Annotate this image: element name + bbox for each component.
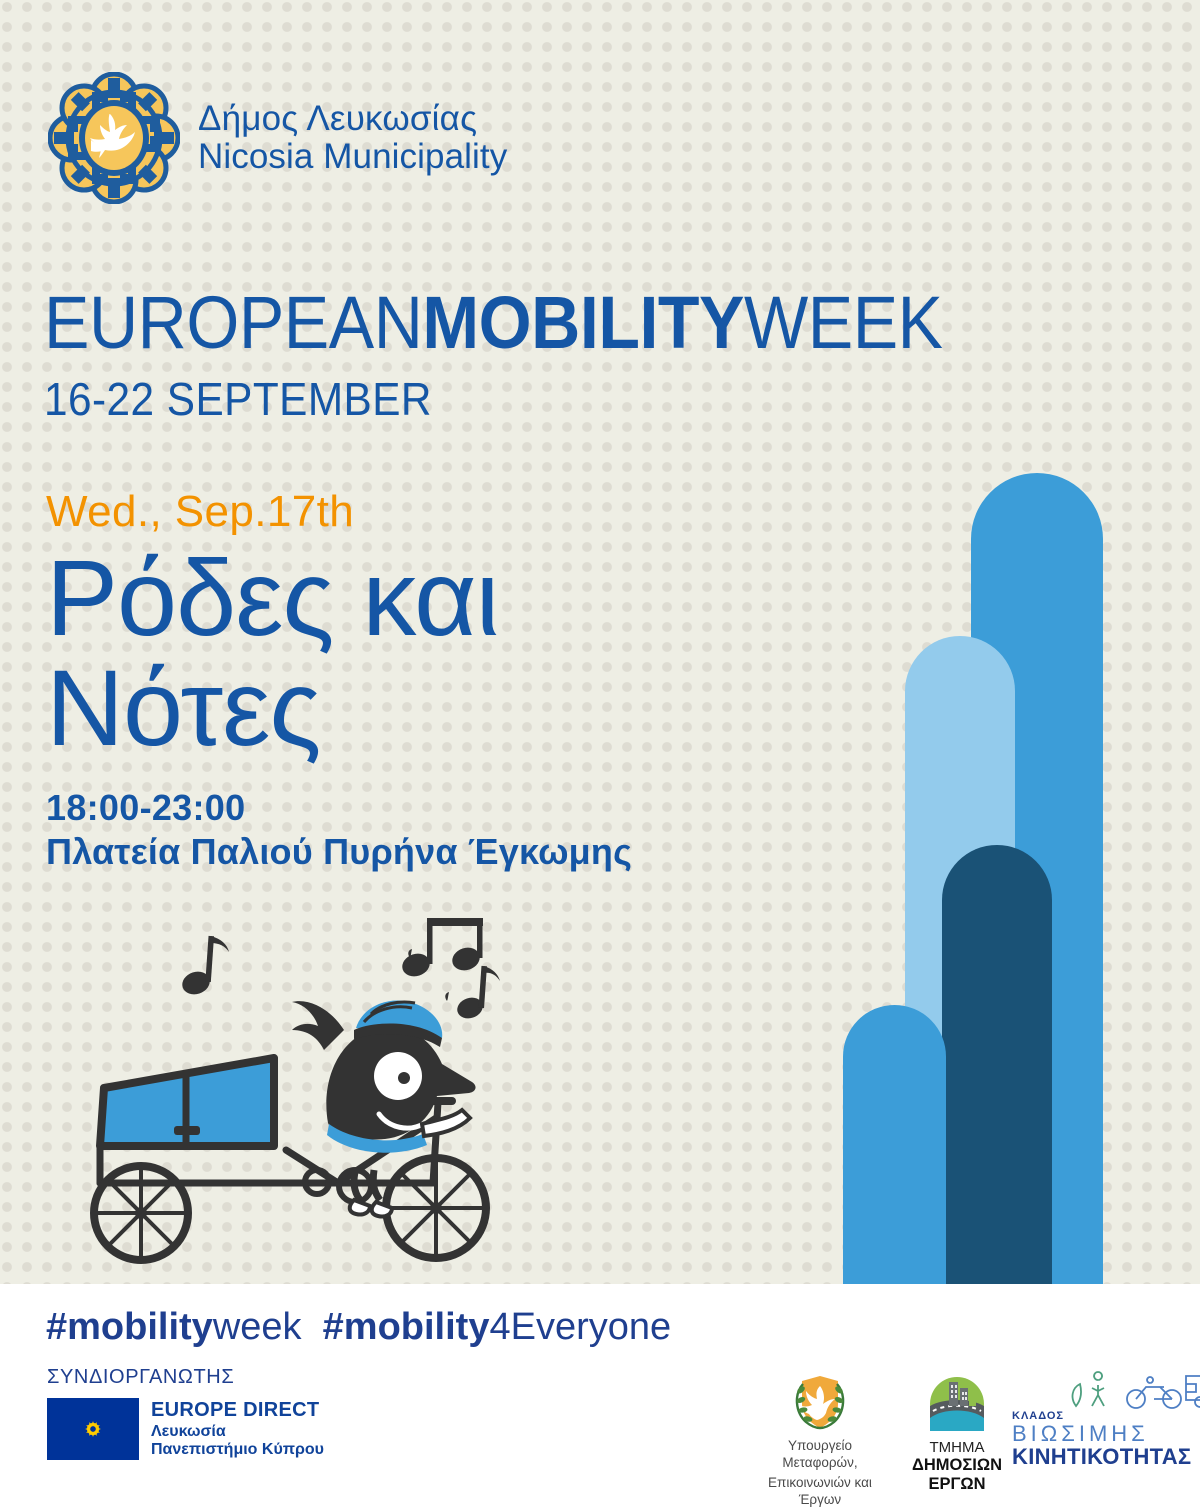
nicosia-municipality-logo-block: Δήμος Λευκωσίας Nicosia Municipality [48,72,507,204]
europe-direct-university: Πανεπιστήμιο Κύπρου [151,1441,324,1460]
mascot-on-cargo-bike-with-music-notes [38,918,548,1264]
nicosia-municipality-rosette-logo [48,72,180,204]
public-works-department-roundel [929,1376,985,1432]
cyprus-coat-of-arms [790,1376,850,1430]
decorative-bar-dark [942,845,1052,1284]
campaign-title-mobility: MOBILITY [422,281,744,364]
bike-wheel-front [386,1158,486,1258]
europe-direct-logo-block: EUROPE DIRECT Λευκωσία Πανεπιστήμιο Κύπρ… [47,1398,324,1460]
sustainable-mobility-line-3: ΚΙΝΗΤΙΚΟΤΗΤΑΣ [1012,1445,1182,1468]
event-block: Wed., Sep.17th Ρόδες και Νότες 18:00-23:… [46,487,632,873]
event-day: Wed., Sep.17th [46,487,632,537]
bike-wheel-rear [94,1166,188,1260]
music-note-left [179,936,229,998]
campaign-title-european: EUROPEAN [44,281,422,364]
coorganiser-label: ΣΥΝΔΙΟΡΓΑΝΩΤΗΣ [47,1366,234,1389]
event-time: 18:00-23:00 [46,787,632,829]
hashtag-mobility4everyone-bold: #mobility [323,1306,490,1348]
public-works-department-logo-block: ΤΜΗΜΑ ΔΗΜΟΣΙΩΝ ΕΡΓΩΝ [892,1376,1022,1494]
hashtags: #mobilityweek #mobility4Everyone [46,1306,671,1349]
department-caption-line-1: ΤΜΗΜΑ [892,1439,1022,1456]
municipality-name-english: Nicosia Municipality [198,138,507,176]
cargo-box [100,1058,274,1146]
poster-canvas: Δήμος Λευκωσίας Nicosia Municipality EUR… [0,0,1200,1500]
campaign-title-week: WEEK [744,281,943,364]
sustainable-mobility-logo-block: ΚΛΑΔΟΣ ΒΙΩΣΙΜΗΣ ΚΙΝΗΤΙΚΟΤΗΤΑΣ [1012,1376,1182,1468]
hashtag-mobility4everyone-rest: 4Everyone [489,1306,671,1348]
europe-direct-text: EUROPE DIRECT Λευκωσία Πανεπιστήμιο Κύπρ… [151,1398,324,1460]
event-title-line-2: Νότες [46,653,632,763]
eu-flag [47,1398,139,1460]
municipality-name-greek: Δήμος Λευκωσίας [198,100,507,138]
footer: #mobilityweek #mobility4Everyone ΣΥΝΔΙΟΡ… [0,1284,1200,1500]
music-note-double [399,918,483,980]
hashtag-mobilityweek-rest: week [213,1306,302,1348]
sustainable-mobility-branch-line-art [1054,1370,1200,1410]
hashtag-mobilityweek-bold: #mobility [46,1306,213,1348]
music-note-right [445,966,500,1022]
event-title-line-1: Ρόδες και [46,543,632,653]
ministry-caption-line-1: Υπουργείο Μεταφορών, [752,1437,888,1472]
event-title: Ρόδες και Νότες [46,543,632,763]
campaign-dates: 16-22 SEPTEMBER [44,372,943,426]
europe-direct-title: EUROPE DIRECT [151,1399,324,1423]
campaign-title: EUROPEANMOBILITYWEEK [44,288,943,358]
ministry-of-transport-logo-block: Υπουργείο Μεταφορών, Επικοινωνιών και Έρ… [752,1376,888,1508]
department-caption-line-2: ΔΗΜΟΣΙΩΝ ΕΡΓΩΝ [892,1456,1022,1494]
ministry-caption-line-2: Επικοινωνιών και Έργων [752,1474,888,1508]
sustainable-mobility-line-2: ΒΙΩΣΙΜΗΣ [1012,1422,1182,1445]
municipality-names: Δήμος Λευκωσίας Nicosia Municipality [198,100,507,176]
decorative-bar-front [843,1005,946,1284]
europe-direct-city: Λευκωσία [151,1423,324,1442]
campaign-title-block: EUROPEANMOBILITYWEEK 16-22 SEPTEMBER [44,288,1021,426]
event-venue: Πλατεία Παλιού Πυρήνα Έγκωμης [46,831,632,873]
